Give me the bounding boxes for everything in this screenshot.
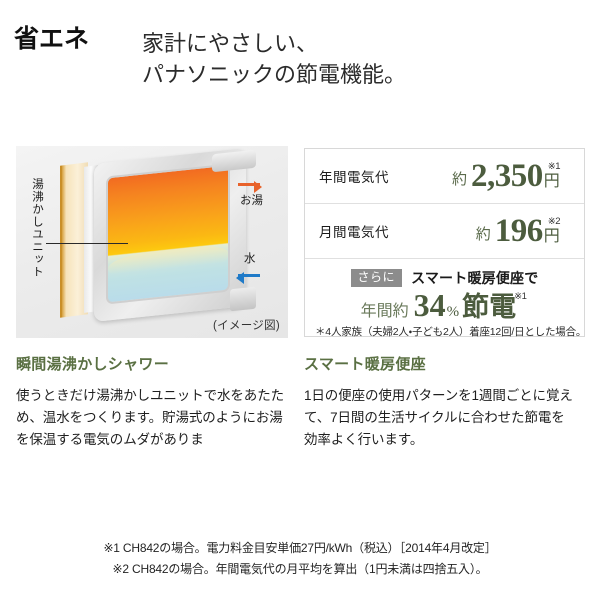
hot-water-outlet: [212, 150, 256, 173]
stat-approx-monthly: 約: [476, 223, 491, 244]
footnote-2: ※2 CH842の場合。年間電気代の月平均を算出（1円未満は四捨五入）。: [0, 559, 600, 580]
header-subtitle-line-1: 家計にやさしい、: [142, 28, 406, 59]
callout-leader-line: [46, 243, 128, 244]
feature-title-seat: スマート暖房便座: [304, 353, 576, 374]
electricity-cost-box: 年間電気代 約 2,350 円 ※1 月間電気代 約 196 円 ※2 さらに …: [304, 148, 585, 337]
stat-number-annual: 2,350: [471, 160, 543, 193]
hot-water-label: お湯: [240, 192, 263, 208]
cold-water-inlet: [230, 287, 256, 312]
header-subtitle: 家計にやさしい、 パナソニックの節電機能。: [142, 28, 406, 90]
stat-footnote-ref-annual: ※1: [548, 161, 560, 172]
savings-word: 節電: [462, 294, 516, 321]
page-title: 省エネ: [14, 27, 89, 52]
page-header: 省エネ 家計にやさしい、 パナソニックの節電機能。: [0, 0, 600, 120]
heater-water-chamber: [106, 163, 230, 304]
status-badge: さらに: [351, 269, 403, 287]
heating-unit-label: 湯沸かしユニット: [27, 178, 43, 278]
stat-value-annual: 約 2,350 円 ※1: [452, 160, 572, 193]
stat-label-monthly: 月間電気代: [319, 221, 389, 241]
header-subtitle-line-2: パナソニックの節電機能。: [142, 59, 406, 90]
cold-water-label: 水: [244, 250, 256, 266]
feature-column-shower: 瞬間湯沸かしシャワー 使うときだけ湯沸かしユニットで水をあたため、温水をつくりま…: [16, 353, 288, 451]
feature-body-shower: 使うときだけ湯沸かしユニットで水をあたため、温水をつくります。貯湯式のようにお湯…: [16, 385, 288, 451]
stat-footnote-ref-monthly: ※2: [548, 216, 560, 227]
stat-approx-annual: 約: [452, 168, 467, 189]
product-illustration: お湯 水 湯沸かしユニット (イメージ図): [16, 146, 288, 338]
savings-prefix: 年間約: [361, 297, 409, 321]
savings-promo-value: 年間約 34 % 節電 ※1: [315, 289, 574, 321]
footnote-1: ※1 CH842の場合。電力料金目安単価27円/kWh（税込）［2014年4月改…: [0, 538, 600, 559]
feature-body-seat: 1日の便座の使用パターンを1週間ごとに覚えて、7日間の生活サイクルに合わせた節電…: [304, 385, 576, 451]
feature-title-shower: 瞬間湯沸かしシャワー: [16, 353, 288, 374]
stat-value-monthly: 約 196 円 ※2: [476, 215, 572, 248]
footnotes: ※1 CH842の場合。電力料金目安単価27円/kWh（税込）［2014年4月改…: [0, 538, 600, 580]
illustration-caption: (イメージ図): [213, 317, 280, 333]
savings-promo: さらに スマート暖房便座で 年間約 34 % 節電 ※1 ＊4人家族（夫婦2人・…: [305, 259, 584, 347]
stat-label-annual: 年間電気代: [319, 166, 389, 186]
savings-footnote-ref: ※1: [514, 291, 526, 302]
arrow-left-blue-icon: [238, 274, 260, 277]
stat-row-monthly: 月間電気代 約 196 円 ※2: [305, 204, 584, 259]
stat-number-monthly: 196: [495, 215, 543, 248]
arrow-right-orange-icon: [238, 183, 260, 186]
savings-promo-title: スマート暖房便座で: [411, 268, 538, 288]
stat-row-annual: 年間電気代 約 2,350 円 ※1: [305, 149, 584, 204]
savings-percent-sign: %: [447, 304, 460, 321]
savings-promo-note: ＊4人家族（夫婦2人・子ども2人）着座12回/日とした場合。: [315, 324, 574, 339]
feature-column-seat: スマート暖房便座 1日の便座の使用パターンを1週間ごとに覚えて、7日間の生活サイ…: [304, 353, 576, 451]
savings-promo-heading: さらに スマート暖房便座で: [315, 268, 574, 288]
savings-percent-value: 34: [414, 289, 446, 321]
